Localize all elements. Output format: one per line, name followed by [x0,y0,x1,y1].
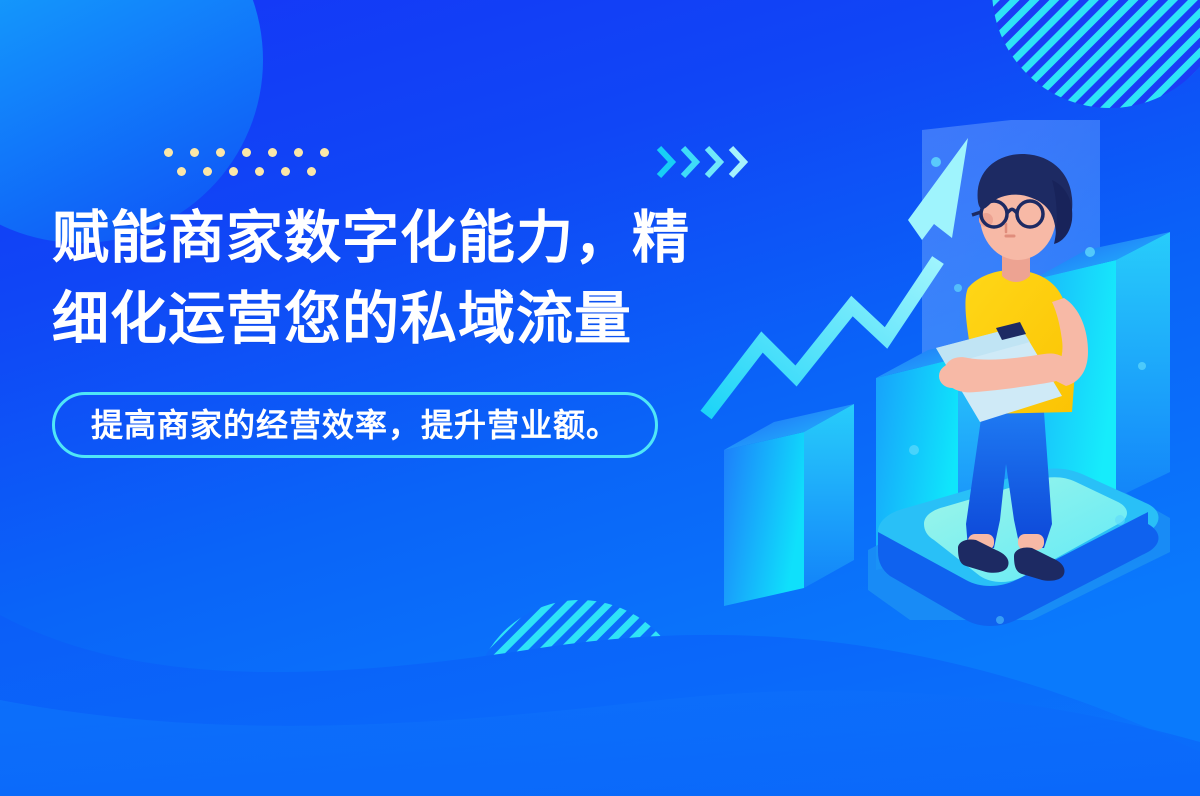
page-title: 赋能商家数字化能力，精 细化运营您的私域流量 [52,198,792,360]
subtitle-pill: 提高商家的经营效率，提升营业额。 [52,392,658,458]
dot-grid-icon [164,148,344,182]
chevron-right-icon [728,145,748,179]
chevron-group [656,142,752,182]
promo-banner: 赋能商家数字化能力，精 细化运营您的私域流量 提高商家的经营效率，提升营业额。 [0,0,1200,796]
chevron-right-icon [680,145,700,179]
chevron-right-icon [656,145,676,179]
subtitle-text: 提高商家的经营效率，提升营业额。 [91,409,619,441]
copy-block: 赋能商家数字化能力，精 细化运营您的私域流量 提高商家的经营效率，提升营业额。 [52,140,792,458]
chevron-right-icon [704,145,724,179]
